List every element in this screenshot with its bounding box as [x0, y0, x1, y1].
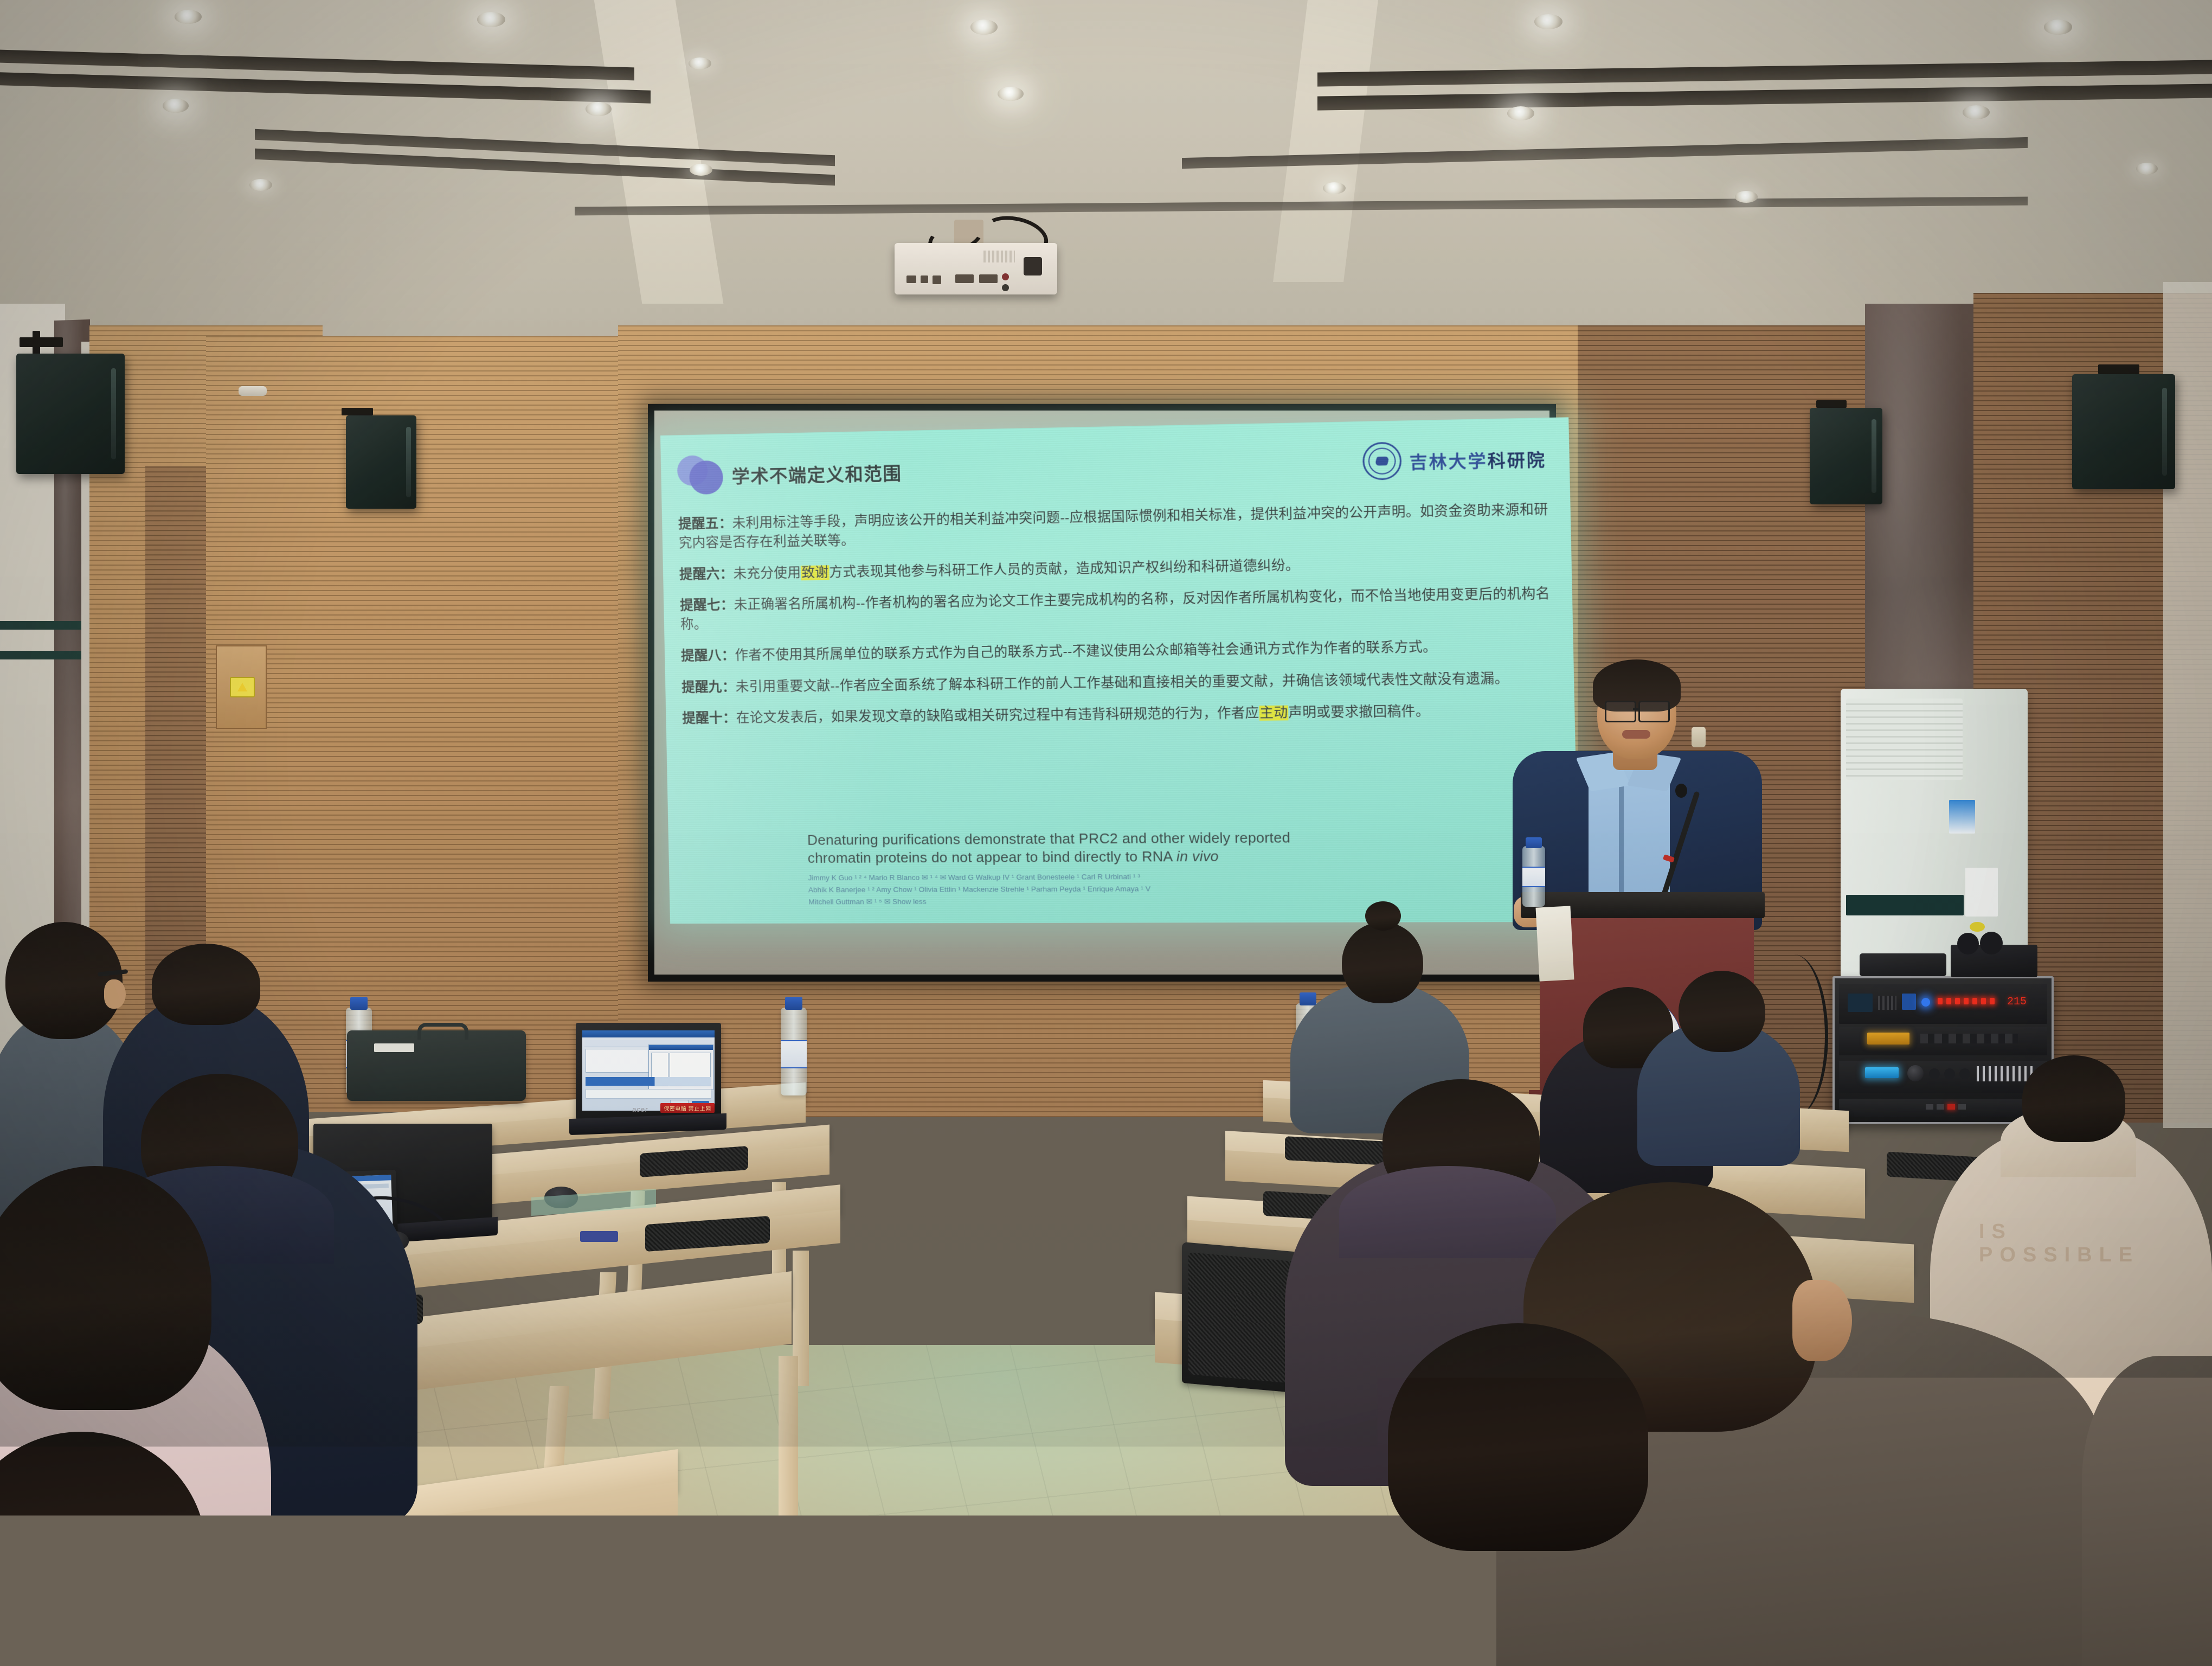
bottle-cap — [1300, 992, 1316, 1005]
rack-display: 215 — [2007, 996, 2027, 1008]
ceiling-light — [689, 57, 711, 69]
highlight-text: 主动 — [1259, 706, 1288, 721]
audience-member-head — [152, 944, 260, 1025]
ceiling-light — [970, 20, 998, 35]
presenter-glasses-left — [1605, 701, 1636, 722]
wall-trim-line — [0, 621, 81, 630]
slide-paragraph-8: 提醒八：作者不使用其所属单位的联系方式作为自己的联系方式--不建议使用公众邮箱等… — [681, 637, 1560, 667]
presenter-glasses-bridge — [1633, 708, 1639, 710]
slide-paragraph-10: 提醒十：在论文发表后，如果发现文章的缺陷或相关研究过程中有违背科研规范的行为，作… — [682, 701, 1561, 729]
ac-info-sticker — [1965, 868, 1998, 917]
rack-unit-mixer — [1839, 1061, 2047, 1093]
slide-decoration-blob — [677, 453, 721, 496]
wall-sensor — [1692, 727, 1706, 747]
audience-member-head — [5, 922, 123, 1039]
ceiling-light — [1507, 106, 1534, 120]
audience-member-torso — [2082, 1356, 2212, 1666]
audience-member-head — [1342, 922, 1423, 1003]
paper-reference: Denaturing purifications demonstrate tha… — [807, 827, 1538, 908]
laptop-bag — [347, 1030, 526, 1101]
wall-wood-back-left — [206, 336, 629, 1112]
headphones — [1980, 932, 2003, 954]
smoke-detector — [239, 386, 267, 396]
electrical-warning-sign — [230, 677, 255, 697]
ac-vent — [1846, 895, 1964, 915]
wall-trim-line — [0, 651, 81, 659]
slide-paragraph-9: 提醒九：未引用重要文献--作者应全面系统了解本科研工作的前人工作基础和直接相关的… — [681, 669, 1560, 697]
audience-member-head — [1679, 971, 1765, 1052]
rack-cyan-display — [1865, 1067, 1899, 1078]
window-titlebar — [582, 1030, 715, 1037]
bottle-cap — [350, 997, 368, 1010]
wall-speaker-right-near — [1810, 408, 1882, 504]
rack-unit-blank — [1839, 1099, 2047, 1117]
laptop-security-sticker: 保密电脑 禁止上网 — [660, 1103, 715, 1113]
presenter-mouth — [1622, 730, 1650, 739]
paper-authors: Jimmy K Guo ¹ ² ⁴ Mario R Blanco ✉ ¹ ⁴ ✉… — [808, 869, 1538, 908]
hood — [1339, 1166, 1556, 1258]
slide-paragraph-5: 提醒五：未利用标注等手段，声明应该公开的相关利益冲突问题--应根据国际惯例和相关… — [678, 501, 1557, 553]
ac-grille — [1846, 699, 1963, 780]
ac-caution-sticker — [1970, 922, 1985, 932]
ac-energy-label — [1949, 800, 1975, 834]
wall-speaker-left-far — [16, 354, 125, 474]
rack-top-device — [1860, 953, 1946, 976]
paper-title: Denaturing purifications demonstrate tha… — [807, 827, 1538, 867]
university-seal-icon — [1362, 442, 1402, 480]
audience-member-head — [2022, 1055, 2125, 1142]
ceiling-light — [1963, 105, 1990, 119]
pen — [580, 1231, 618, 1242]
slide-body: 提醒五：未利用标注等手段，声明应该公开的相关利益冲突问题--应根据国际惯例和相关… — [678, 501, 1561, 741]
speaker-bracket — [342, 408, 373, 415]
ceiling-light — [1323, 182, 1346, 194]
slide-title: 学术不端定义和范围 — [731, 459, 902, 489]
ceiling-light — [163, 99, 189, 113]
speaker-bracket — [20, 337, 63, 347]
bottle-label — [1522, 867, 1545, 887]
laptop-brand-label: acer — [632, 1105, 648, 1113]
university-logo: 吉林大学科研院 — [1362, 439, 1547, 480]
ceiling-light — [175, 10, 202, 24]
speaker-bracket — [1816, 400, 1847, 408]
wall-speaker-left-near — [346, 415, 416, 509]
ceiling-light — [249, 179, 272, 191]
laptop-screen — [582, 1030, 715, 1111]
laptop-acer[interactable]: acer 保密电脑 禁止上网 — [576, 1023, 721, 1119]
speaker-bracket — [33, 331, 40, 355]
presenter-glasses-right — [1638, 701, 1670, 722]
bottle-label — [781, 1040, 807, 1068]
bag-handle — [417, 1023, 468, 1040]
university-name: 吉林大学科研院 — [1409, 445, 1546, 473]
ceiling-light — [2136, 163, 2158, 175]
bag-tag — [374, 1043, 414, 1052]
desk-leg — [779, 1356, 798, 1540]
highlight-text: 致谢 — [801, 565, 829, 580]
ceiling-light — [1735, 191, 1758, 203]
headphones — [1957, 933, 1979, 954]
ceiling-light — [998, 87, 1024, 101]
microphone-head — [1675, 784, 1687, 798]
bottle-cap — [1526, 837, 1542, 848]
ceiling-light — [2044, 20, 2072, 35]
slide-paragraph-7: 提醒七：未正确署名所属机构--作者机构的署名应为论文工作主要完成机构的名称，反对… — [680, 585, 1559, 635]
presentation-slide: 学术不端定义和范围 吉林大学科研院 提醒五：未利用标注等手段，声明应该公开的相关… — [660, 417, 1579, 924]
rack-amber-display — [1867, 1033, 1909, 1045]
slide-paragraph-6: 提醒六：未充分使用致谢方式表现其他参与科研工作人员的贡献，造成知识产权纠纷和科研… — [679, 552, 1558, 585]
bottle-cap — [785, 997, 802, 1010]
audience-member-torso — [1290, 1497, 1778, 1666]
ceiling-light — [586, 102, 612, 116]
wall-speaker-right-far — [2072, 374, 2175, 489]
ceiling-projector — [895, 243, 1057, 294]
ear — [1792, 1280, 1852, 1361]
av-equipment-rack: 215 — [1832, 976, 2054, 1124]
rack-unit-amplifier: 215 — [1839, 984, 2047, 1024]
hair-bun — [1365, 901, 1401, 931]
ceiling-light — [690, 164, 712, 176]
hoodie-print-text: IS POSSIBLE — [1979, 1220, 2174, 1267]
lecture-hall-photo: 学术不端定义和范围 吉林大学科研院 提醒五：未利用标注等手段，声明应该公开的相关… — [0, 0, 2212, 1666]
electrical-panel — [216, 645, 267, 729]
rack-unit-processor — [1839, 1027, 2047, 1055]
ceiling-light — [477, 12, 505, 27]
speaker-bracket — [2098, 364, 2139, 374]
ear — [104, 979, 126, 1009]
podium-papers — [1535, 906, 1574, 981]
ceiling-light — [1534, 14, 1562, 29]
